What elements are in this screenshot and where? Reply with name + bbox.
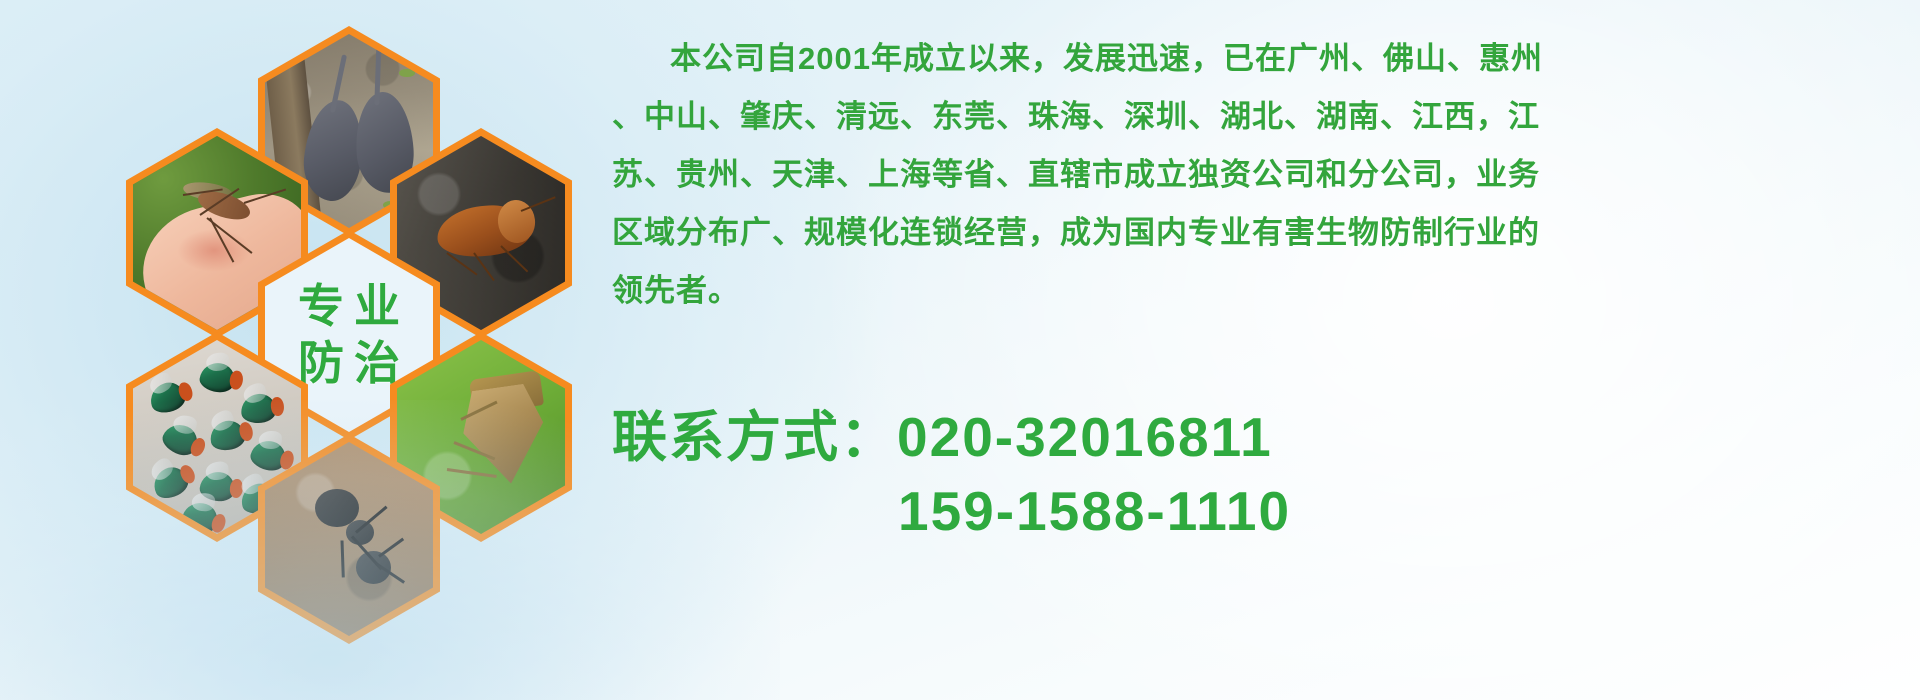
- promo-banner: 专业 防治: [0, 0, 1920, 700]
- phone-primary[interactable]: 020-32016811: [897, 406, 1273, 468]
- intro-line-2: 、中山、肇庆、清远、东莞、珠海、深圳、湖北、湖南、江西，江: [612, 88, 1872, 146]
- intro-line-4: 区域分布广、规模化连锁经营，成为国内专业有害生物防制行业的: [612, 204, 1872, 262]
- contact-label: 联系方式：: [612, 406, 897, 468]
- intro-line-1: 本公司自2001年成立以来，发展迅速，已在广州、佛山、惠州: [612, 30, 1872, 88]
- intro-line-3: 苏、贵州、天津、上海等省、直辖市成立独资公司和分公司，业务: [612, 146, 1872, 204]
- logo-line-1: 专业: [288, 278, 410, 336]
- contact-block: 联系方式：020-32016811 159-1588-1110: [612, 400, 1872, 548]
- ant-image: [265, 442, 433, 636]
- intro-paragraph: 本公司自2001年成立以来，发展迅速，已在广州、佛山、惠州 、中山、肇庆、清远、…: [612, 30, 1872, 320]
- phone-secondary[interactable]: 159-1588-1110: [612, 474, 1872, 548]
- honeycomb-logo: 专业 防治: [88, 8, 588, 568]
- intro-line-5: 领先者。: [612, 262, 1872, 320]
- contact-primary-line: 联系方式：020-32016811: [612, 400, 1872, 474]
